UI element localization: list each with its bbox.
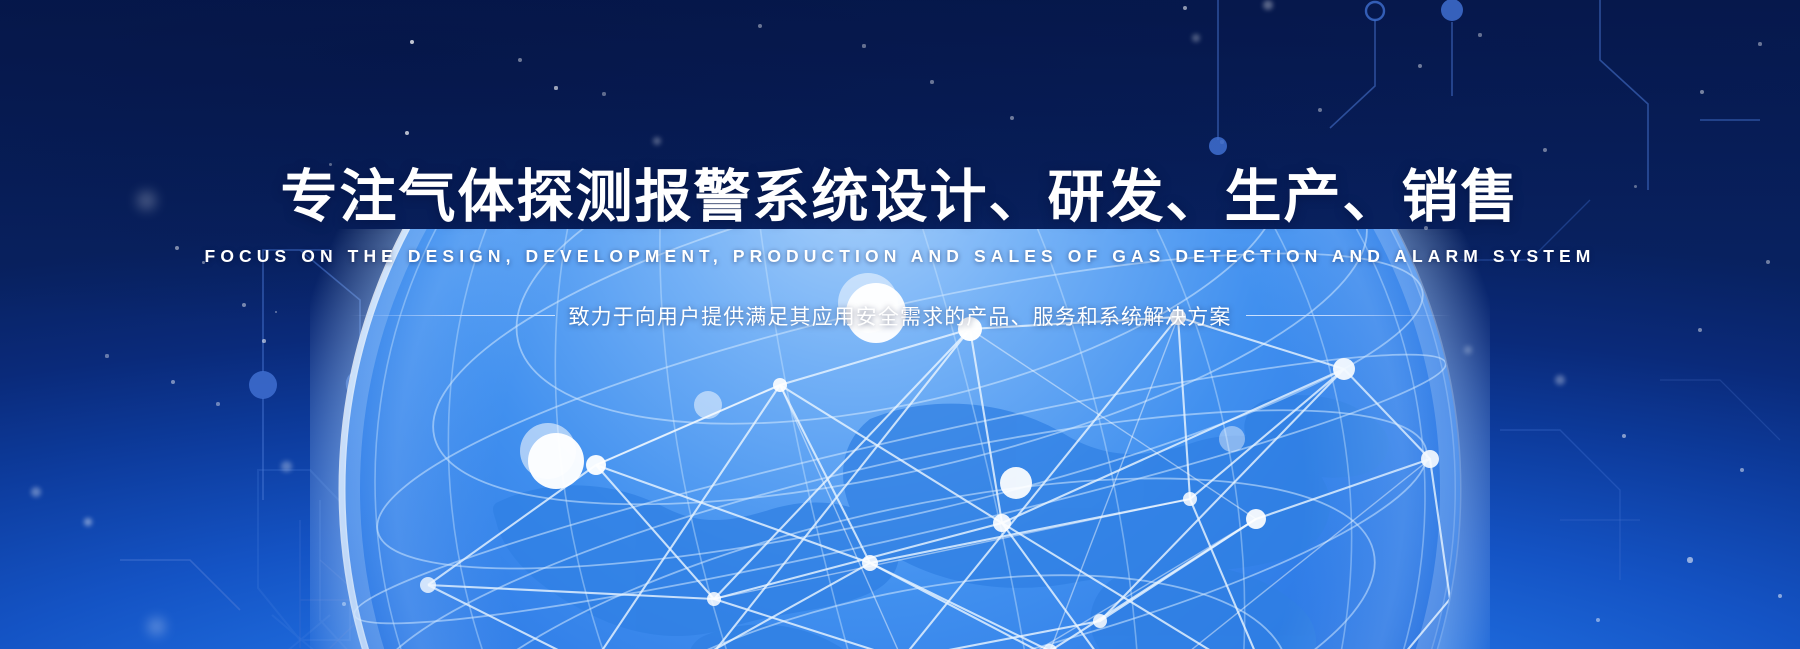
circuit-node-filled [249, 371, 277, 399]
particle-dot [558, 490, 563, 495]
particle-dot [105, 354, 108, 357]
particle-dot [868, 380, 872, 384]
particle-dot [262, 339, 266, 343]
particle-dot [148, 618, 165, 635]
particle-dot [427, 333, 436, 342]
hero-banner: 专注气体探测报警系统设计、研发、生产、销售 FOCUS ON THE DESIG… [0, 0, 1800, 649]
particle-dot [978, 498, 982, 502]
particle-dot [1043, 596, 1047, 600]
circuit-node-ring [347, 371, 373, 397]
particle-dot [1778, 594, 1782, 598]
particle-dot [1106, 538, 1110, 542]
particle-dot [615, 559, 630, 574]
particle-dot [1740, 468, 1744, 472]
divider-rule-left [350, 315, 555, 316]
particle-dot [1464, 346, 1472, 354]
particle-dot [281, 461, 292, 472]
particle-dot [84, 518, 93, 527]
particle-dot [342, 602, 346, 606]
particle-dot [216, 402, 220, 406]
particle-dot [171, 380, 175, 384]
tagline-text: 致力于向用户提供满足其应用安全需求的产品、服务和系统解决方案 [555, 301, 1246, 331]
particle-dot [468, 536, 472, 540]
particle-dot [1555, 375, 1565, 385]
particle-dot [1230, 410, 1234, 414]
subtitle-english: FOCUS ON THE DESIGN, DEVELOPMENT, PRODUC… [0, 246, 1800, 267]
particle-dot [1596, 618, 1600, 622]
banner-copy: 专注气体探测报警系统设计、研发、生产、销售 FOCUS ON THE DESIG… [0, 0, 1800, 331]
particle-dot [1622, 434, 1626, 438]
particle-dot [31, 487, 41, 497]
tagline-row: 致力于向用户提供满足其应用安全需求的产品、服务和系统解决方案 [0, 301, 1800, 331]
particle-dot [703, 466, 707, 470]
divider-rule-right [1246, 315, 1451, 316]
particle-dot [610, 580, 614, 584]
particle-dot [1687, 557, 1692, 562]
page-title: 专注气体探测报警系统设计、研发、生产、销售 [0, 0, 1800, 230]
